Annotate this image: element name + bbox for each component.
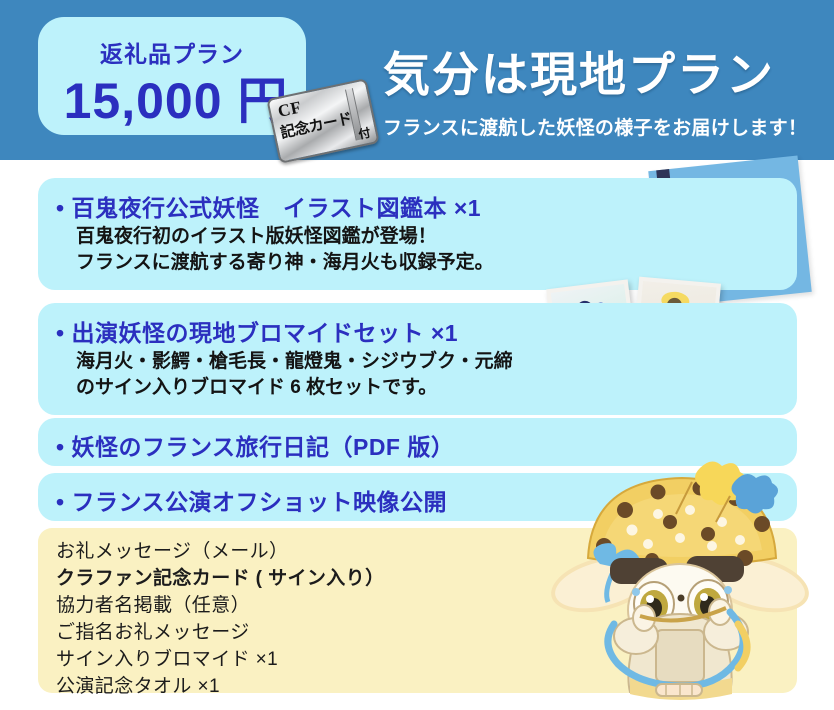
price-box: 返礼品プラン 15,000 円 — [38, 17, 306, 135]
reward-heading-3: • 妖怪のフランス旅行日記（PDF 版） — [56, 428, 454, 462]
page-subtitle: フランスに渡航した妖怪の様子をお届けします！ — [383, 113, 807, 140]
reward-body-line: 海月火・影鰐・槍毛長・龍燈鬼・シジウブク・元締 — [76, 349, 513, 375]
benefits-list: お礼メッセージ（メール） クラファン記念カード ( サイン入り） 協力者名掲載（… — [56, 539, 385, 701]
list-item: 協力者名掲載（任意） — [56, 593, 385, 620]
reward-plan-graphic: 返礼品プラン 15,000 円 CF 記念カード 付 気分は現地プラン フランス… — [0, 0, 834, 710]
page-title: 気分は現地プラン — [383, 36, 775, 105]
reward-heading-2: • 出演妖怪の現地ブロマイドセット ×1 — [56, 314, 458, 348]
reward-body-line: 百鬼夜行初のイラスト版妖怪図鑑が登場！ — [76, 224, 494, 250]
yokai-mascot-character — [540, 452, 825, 700]
reward-body-1: 百鬼夜行初のイラスト版妖怪図鑑が登場！ フランスに渡航する寄り神・海月火も収録予… — [76, 224, 494, 275]
reward-panel-1: • 百鬼夜行公式妖怪 イラスト図鑑本 ×1 百鬼夜行初のイラスト版妖怪図鑑が登場… — [38, 178, 797, 290]
reward-heading-4: • フランス公演オフショット映像公開 — [56, 483, 447, 517]
list-item: ご指名お礼メッセージ — [56, 620, 385, 647]
card-suffix-label: 付 — [357, 124, 372, 143]
list-item: サイン入りブロマイド ×1 — [56, 647, 385, 674]
reward-body-2: 海月火・影鰐・槍毛長・龍燈鬼・シジウブク・元締 のサイン入りブロマイド 6 枚セ… — [76, 349, 513, 400]
reward-body-line: のサイン入りブロマイド 6 枚セットです。 — [76, 375, 513, 401]
mascot-icon — [540, 452, 825, 700]
list-item: クラファン記念カード ( サイン入り） — [56, 566, 385, 593]
list-item: 公演記念タオル ×1 — [56, 674, 385, 701]
reward-body-line: フランスに渡航する寄り神・海月火も収録予定。 — [76, 250, 494, 276]
reward-heading-1: • 百鬼夜行公式妖怪 イラスト図鑑本 ×1 — [56, 189, 481, 223]
list-item: お礼メッセージ（メール） — [56, 539, 385, 566]
reward-panel-2: • 出演妖怪の現地ブロマイドセット ×1 海月火・影鰐・槍毛長・龍燈鬼・シジウブ… — [38, 303, 797, 415]
